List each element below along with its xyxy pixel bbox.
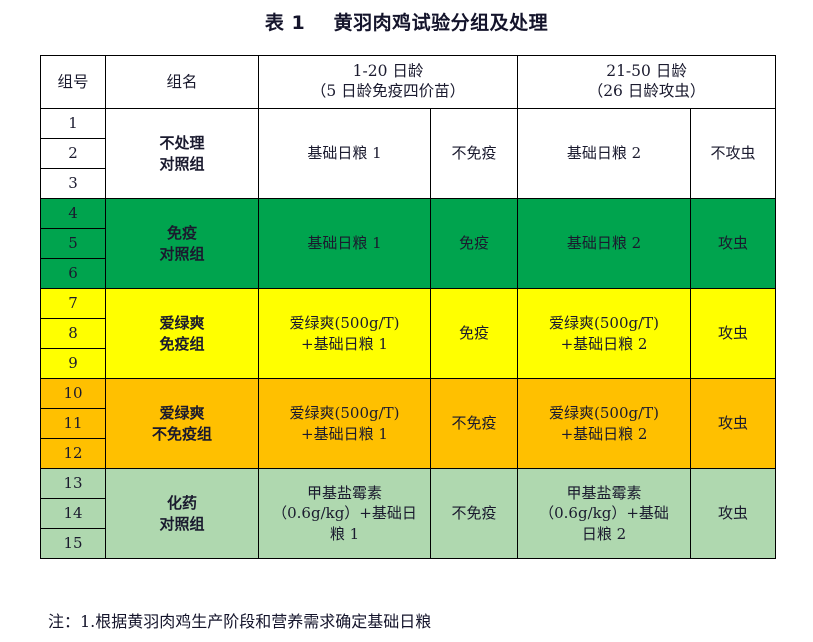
table-caption: 表 1 黄羽肉鸡试验分组及处理 xyxy=(0,8,813,35)
header-phase-1: 1-20 日龄 （5 日龄免疫四价苗） xyxy=(259,56,518,109)
phase2-diet-cell-line-1: 爱绿爽(500g/T) xyxy=(521,403,687,423)
experiment-table-container: 组号 组名 1-20 日龄 （5 日龄免疫四价苗） 21-50 日龄 （26 日… xyxy=(40,55,775,559)
phase1-diet-cell: 爱绿爽(500g/T)+基础日粮 1 xyxy=(259,379,431,469)
header-group-name: 组名 xyxy=(106,56,259,109)
phase1-diet-cell-line-1: 基础日粮 1 xyxy=(262,143,427,163)
group-number-cell: 4 xyxy=(41,199,106,229)
phase2-challenge-cell: 不攻虫 xyxy=(691,109,776,199)
phase2-diet-cell: 甲基盐霉素（0.6g/kg）+基础日粮 2 xyxy=(518,469,691,559)
header-phase-2-line-1: 21-50 日龄 xyxy=(521,62,772,82)
group-number-cell: 13 xyxy=(41,469,106,499)
group-name-cell-line-1: 不处理 xyxy=(109,133,255,153)
phase2-challenge-cell-line-1: 攻虫 xyxy=(694,413,772,433)
table-footnote: 注：1.根据黄羽肉鸡生产阶段和营养需求确定基础日粮 xyxy=(48,608,431,632)
group-name-cell-line-2: 不免疫组 xyxy=(109,424,255,444)
phase2-diet-cell: 基础日粮 2 xyxy=(518,199,691,289)
phase2-diet-cell-line-1: 基础日粮 2 xyxy=(521,233,687,253)
group-number-cell: 11 xyxy=(41,409,106,439)
phase1-diet-cell: 基础日粮 1 xyxy=(259,199,431,289)
phase1-diet-cell-line-1: 爱绿爽(500g/T) xyxy=(262,403,427,423)
phase2-diet-cell: 爱绿爽(500g/T)+基础日粮 2 xyxy=(518,379,691,469)
group-name-cell-line-1: 爱绿爽 xyxy=(109,313,255,333)
group-name-cell-line-2: 对照组 xyxy=(109,514,255,534)
phase2-challenge-cell: 攻虫 xyxy=(691,469,776,559)
group-number-cell: 5 xyxy=(41,229,106,259)
group-name-cell: 免疫对照组 xyxy=(106,199,259,289)
phase2-diet-cell-line-2: （0.6g/kg）+基础 xyxy=(521,503,687,523)
group-name-cell: 爱绿爽不免疫组 xyxy=(106,379,259,469)
phase1-immunization-cell-line-1: 不免疫 xyxy=(434,503,514,523)
table-row: 10爱绿爽不免疫组爱绿爽(500g/T)+基础日粮 1不免疫爱绿爽(500g/T… xyxy=(41,379,776,409)
table-row: 4免疫对照组基础日粮 1免疫基础日粮 2攻虫 xyxy=(41,199,776,229)
phase2-challenge-cell-line-1: 不攻虫 xyxy=(694,143,772,163)
group-name-cell: 化药对照组 xyxy=(106,469,259,559)
phase1-diet-cell-line-1: 爱绿爽(500g/T) xyxy=(262,313,427,333)
group-number-cell: 12 xyxy=(41,439,106,469)
phase1-diet-cell-line-2: +基础日粮 1 xyxy=(262,334,427,354)
phase1-immunization-cell: 免疫 xyxy=(431,199,518,289)
phase2-challenge-cell: 攻虫 xyxy=(691,289,776,379)
phase2-diet-cell-line-1: 爱绿爽(500g/T) xyxy=(521,313,687,333)
header-phase-2: 21-50 日龄 （26 日龄攻虫） xyxy=(518,56,776,109)
experiment-grouping-table: 组号 组名 1-20 日龄 （5 日龄免疫四价苗） 21-50 日龄 （26 日… xyxy=(40,55,776,559)
phase2-diet-cell-line-1: 基础日粮 2 xyxy=(521,143,687,163)
phase1-diet-cell-line-1: 基础日粮 1 xyxy=(262,233,427,253)
phase2-challenge-cell-line-1: 攻虫 xyxy=(694,233,772,253)
group-number-cell: 14 xyxy=(41,499,106,529)
group-number-cell: 3 xyxy=(41,169,106,199)
table-header-row: 组号 组名 1-20 日龄 （5 日龄免疫四价苗） 21-50 日龄 （26 日… xyxy=(41,56,776,109)
table-row: 1不处理对照组基础日粮 1不免疫基础日粮 2不攻虫 xyxy=(41,109,776,139)
phase1-diet-cell: 甲基盐霉素（0.6g/kg）+基础日粮 1 xyxy=(259,469,431,559)
phase1-immunization-cell-line-1: 不免疫 xyxy=(434,413,514,433)
phase1-diet-cell-line-1: 甲基盐霉素 xyxy=(262,483,427,503)
group-number-cell: 7 xyxy=(41,289,106,319)
phase2-challenge-cell: 攻虫 xyxy=(691,379,776,469)
header-phase-1-line-1: 1-20 日龄 xyxy=(262,62,514,82)
phase1-immunization-cell: 不免疫 xyxy=(431,469,518,559)
group-number-cell: 2 xyxy=(41,139,106,169)
phase2-challenge-cell-line-1: 攻虫 xyxy=(694,503,772,523)
group-number-cell: 15 xyxy=(41,529,106,559)
phase1-diet-cell-line-2: +基础日粮 1 xyxy=(262,424,427,444)
phase1-diet-cell-line-2: （0.6g/kg）+基础日 xyxy=(262,503,427,523)
phase1-immunization-cell-line-1: 免疫 xyxy=(434,233,514,253)
phase1-immunization-cell: 免疫 xyxy=(431,289,518,379)
phase1-immunization-cell: 不免疫 xyxy=(431,109,518,199)
table-row: 13化药对照组甲基盐霉素（0.6g/kg）+基础日粮 1不免疫甲基盐霉素（0.6… xyxy=(41,469,776,499)
phase1-immunization-cell-line-1: 不免疫 xyxy=(434,143,514,163)
phase2-challenge-cell-line-1: 攻虫 xyxy=(694,323,772,343)
phase2-challenge-cell: 攻虫 xyxy=(691,199,776,289)
header-phase-1-line-2: （5 日龄免疫四价苗） xyxy=(262,82,514,102)
header-phase-2-line-2: （26 日龄攻虫） xyxy=(521,82,772,102)
group-name-cell-line-1: 爱绿爽 xyxy=(109,403,255,423)
header-group-no: 组号 xyxy=(41,56,106,109)
phase2-diet-cell-line-2: +基础日粮 2 xyxy=(521,424,687,444)
group-name-cell-line-1: 免疫 xyxy=(109,223,255,243)
group-name-cell: 爱绿爽免疫组 xyxy=(106,289,259,379)
phase1-immunization-cell-line-1: 免疫 xyxy=(434,323,514,343)
group-number-cell: 9 xyxy=(41,349,106,379)
phase2-diet-cell-line-3: 日粮 2 xyxy=(521,524,687,544)
group-name-cell: 不处理对照组 xyxy=(106,109,259,199)
group-name-cell-line-2: 免疫组 xyxy=(109,334,255,354)
group-number-cell: 10 xyxy=(41,379,106,409)
group-name-cell-line-1: 化药 xyxy=(109,493,255,513)
group-number-cell: 6 xyxy=(41,259,106,289)
phase1-diet-cell-line-3: 粮 1 xyxy=(262,524,427,544)
phase1-diet-cell: 基础日粮 1 xyxy=(259,109,431,199)
group-name-cell-line-2: 对照组 xyxy=(109,154,255,174)
phase2-diet-cell-line-1: 甲基盐霉素 xyxy=(521,483,687,503)
phase2-diet-cell-line-2: +基础日粮 2 xyxy=(521,334,687,354)
phase1-diet-cell: 爱绿爽(500g/T)+基础日粮 1 xyxy=(259,289,431,379)
group-number-cell: 8 xyxy=(41,319,106,349)
phase2-diet-cell: 爱绿爽(500g/T)+基础日粮 2 xyxy=(518,289,691,379)
group-number-cell: 1 xyxy=(41,109,106,139)
phase2-diet-cell: 基础日粮 2 xyxy=(518,109,691,199)
group-name-cell-line-2: 对照组 xyxy=(109,244,255,264)
table-row: 7爱绿爽免疫组爱绿爽(500g/T)+基础日粮 1免疫爱绿爽(500g/T)+基… xyxy=(41,289,776,319)
phase1-immunization-cell: 不免疫 xyxy=(431,379,518,469)
